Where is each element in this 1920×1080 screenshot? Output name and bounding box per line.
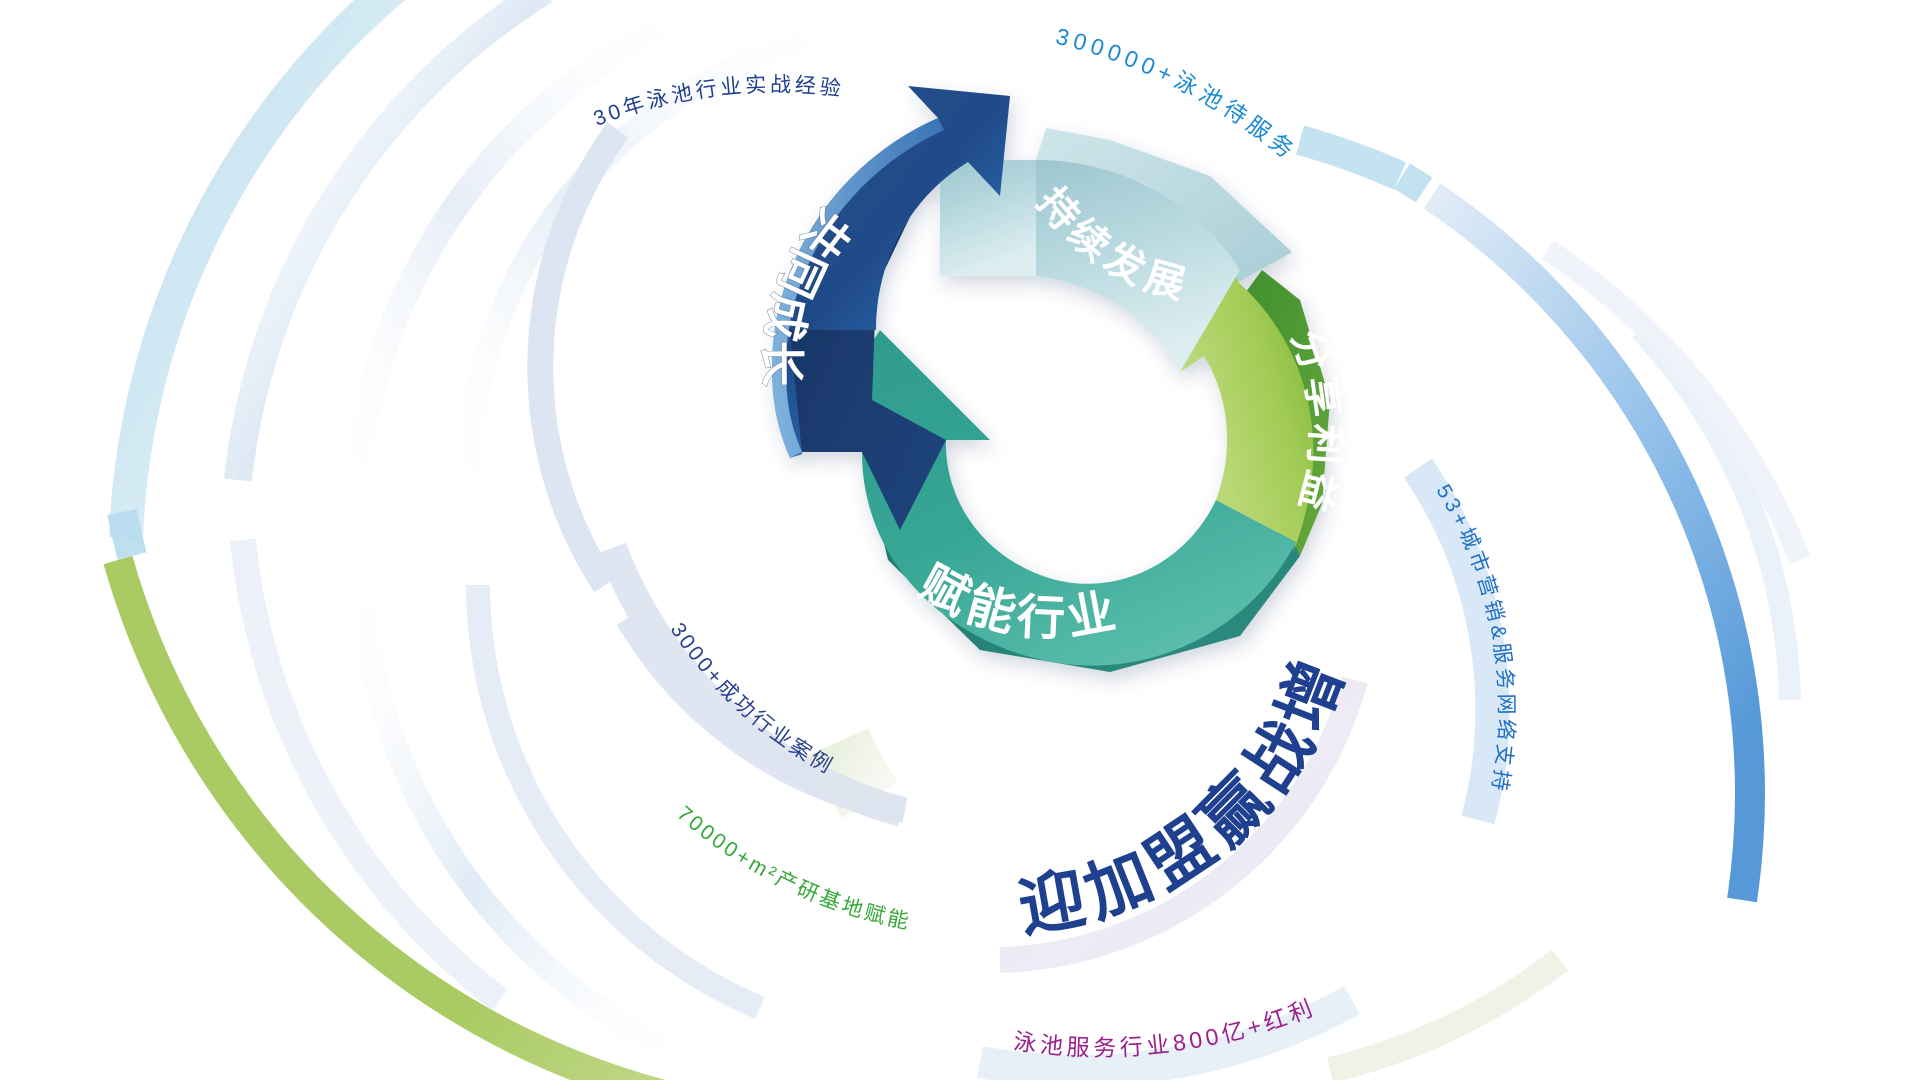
cycle-diagram xyxy=(772,86,1330,672)
infographic-canvas: 共同成长 持续发展 分享利益 赋能行业 30年泳池行业实战经验 300000+泳… xyxy=(0,0,1920,1080)
ring-arc-blue-right-stub xyxy=(1402,176,1424,190)
ring-arc-pale-a xyxy=(238,0,545,480)
ring-arc-cyan-stub xyxy=(122,512,132,556)
stat-label-base: 70000+m²产研基地赋能 xyxy=(673,802,914,934)
headline-text: 欢迎加盟赢战增长 xyxy=(0,0,1360,945)
ring-arc-far-right-1 xyxy=(1640,330,1790,700)
ring-arc-cyan-outer xyxy=(126,0,428,538)
ring-arc-cyan-right-top xyxy=(1300,140,1400,176)
ring-arc-near-left xyxy=(540,130,618,585)
headline-group: 欢迎加盟赢战增长 xyxy=(0,0,1360,945)
ring-arc-bottom-green-faint xyxy=(1330,960,1560,1070)
infographic-svg: 共同成长 持续发展 分享利益 赋能行业 30年泳池行业实战经验 300000+泳… xyxy=(0,0,1920,1080)
